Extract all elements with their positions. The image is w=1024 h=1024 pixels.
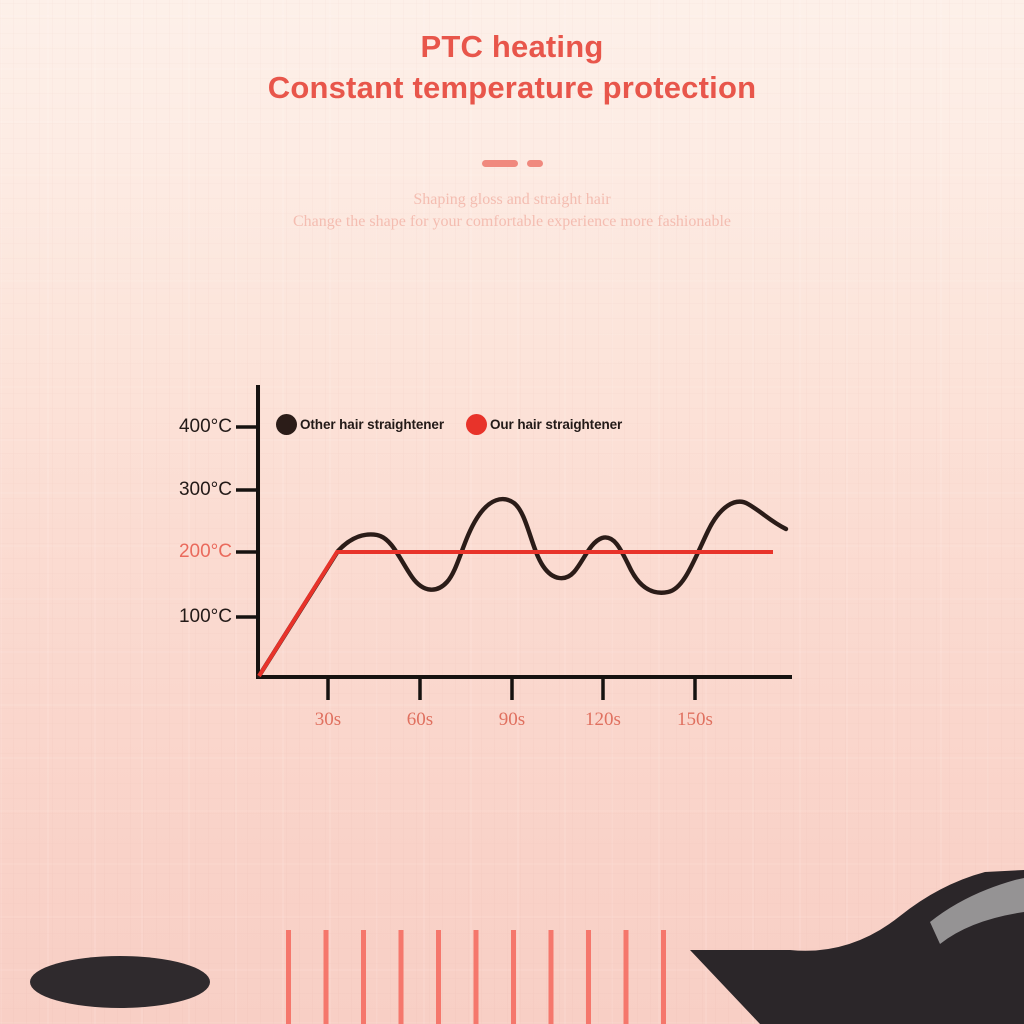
straightener-handle: [904, 866, 1024, 1024]
heat-streak: [549, 930, 554, 1024]
legend-dot-icon-other: [276, 414, 297, 435]
comb-tooth-highlight: [570, 770, 577, 980]
y-axis-label-100: 100°C: [152, 606, 232, 628]
x-axis-label-150s: 150s: [660, 709, 730, 731]
y-axis-label-200: 200°C: [152, 541, 232, 563]
comb-tooth-highlight: [464, 770, 471, 980]
comb-tooth-highlight: [199, 770, 206, 980]
legend-item-ours: Our hair straightener: [466, 414, 622, 435]
x-axis-label-60s: 60s: [385, 709, 455, 731]
heat-streak: [661, 930, 666, 1024]
legend-label-other: Other hair straightener: [300, 417, 444, 432]
heat-streak: [511, 930, 516, 1024]
heat-streak: [474, 930, 479, 1024]
legend-item-other: Other hair straightener: [276, 414, 444, 435]
comb-tooth-highlight: [305, 770, 312, 980]
comb-teeth: [168, 758, 770, 1012]
comb-tooth-highlight: [676, 770, 683, 980]
heat-streak: [324, 930, 329, 1024]
heat-streak: [586, 930, 591, 1024]
comb-tooth-highlight: [384, 770, 391, 980]
comb-tooth-highlight: [172, 766, 179, 980]
comb-tooth-highlight: [649, 770, 656, 980]
legend-label-ours: Our hair straightener: [490, 417, 622, 432]
comb-tooth-highlight: [225, 770, 232, 980]
infographic-page: PTC heating Constant temperature protect…: [0, 0, 1024, 1024]
heat-streak: [624, 930, 629, 1024]
product-photo: [0, 744, 1024, 1024]
comb-tooth-highlight: [490, 770, 497, 980]
x-axis-label-120s: 120s: [568, 709, 638, 731]
comb-tooth-highlight: [755, 770, 762, 980]
comb-tooth-highlight: [702, 770, 709, 980]
series-our-hair-straightener: [259, 552, 773, 676]
x-axis-label-90s: 90s: [477, 709, 547, 731]
series-other-hair-straightener: [259, 499, 786, 676]
heat-streak: [399, 930, 404, 1024]
comb-tooth-highlight: [252, 770, 259, 980]
chart-legend: Other hair straightener Our hair straigh…: [276, 414, 622, 435]
heat-streak: [286, 930, 291, 1024]
x-axis-label-30s: 30s: [293, 709, 363, 731]
comb-tooth-highlight: [278, 770, 285, 980]
comb-tooth-highlight: [729, 770, 736, 980]
legend-dot-icon-ours: [466, 414, 487, 435]
heat-streak: [361, 930, 366, 1024]
y-axis-label-300: 300°C: [152, 479, 232, 501]
y-axis-label-400: 400°C: [152, 416, 232, 438]
heat-streak: [436, 930, 441, 1024]
